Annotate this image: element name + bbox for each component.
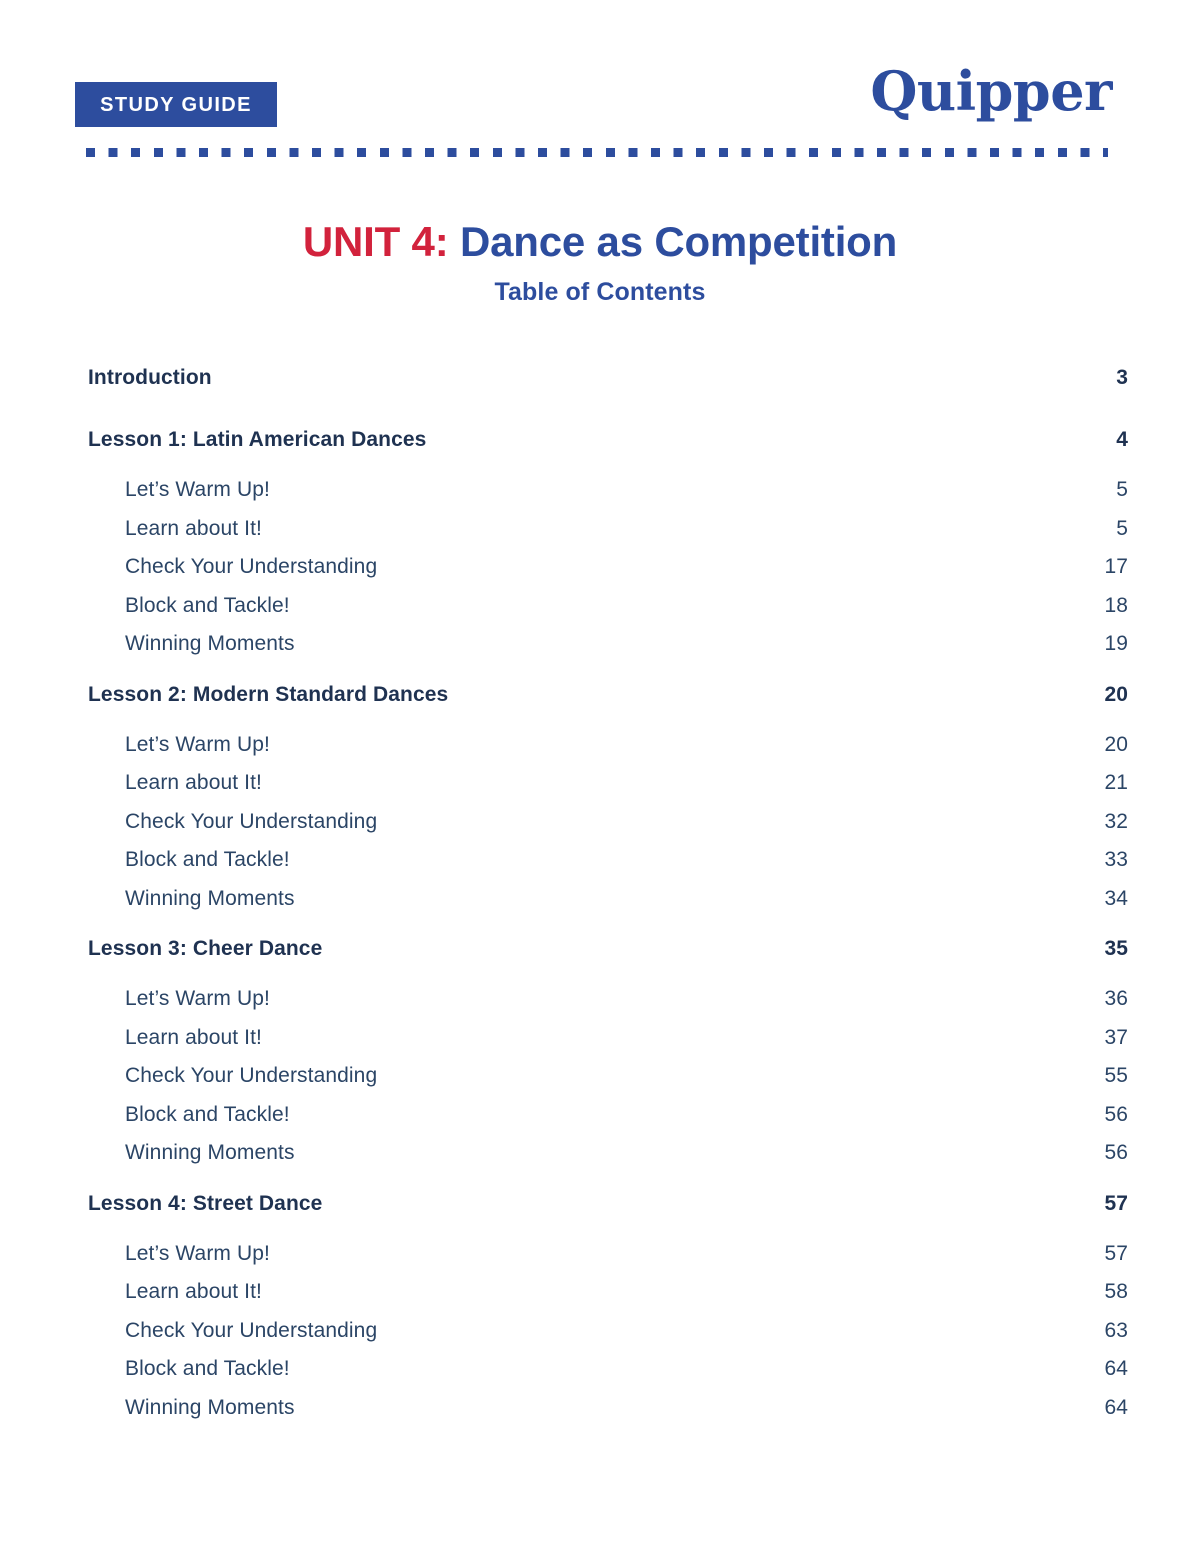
toc-subentry-row[interactable]: Winning Moments64: [88, 1396, 1128, 1435]
toc-entry-label: Lesson 4: Street Dance: [88, 1192, 322, 1216]
toc-entry-page: 35: [1104, 937, 1128, 961]
quipper-logo: Quipper: [870, 64, 1112, 118]
toc-subentry-row[interactable]: Winning Moments34: [88, 887, 1128, 926]
toc-entry-page: 56: [1104, 1103, 1128, 1127]
toc-entry-label: Learn about It!: [125, 517, 262, 541]
toc-entry-label: Block and Tackle!: [125, 594, 290, 618]
toc-entry-page: 36: [1104, 987, 1128, 1011]
toc-subentry-row[interactable]: Learn about It!58: [88, 1280, 1128, 1319]
toc-entry-page: 20: [1104, 683, 1128, 707]
toc-entry-label: Block and Tackle!: [125, 848, 290, 872]
toc-entry-label: Block and Tackle!: [125, 1103, 290, 1127]
toc-entry-label: Let’s Warm Up!: [125, 987, 270, 1011]
toc-entry-page: 20: [1104, 733, 1128, 757]
toc-entry-page: 57: [1104, 1192, 1128, 1216]
toc-subentry-row[interactable]: Check Your Understanding32: [88, 810, 1128, 849]
toc-entry-page: 32: [1104, 810, 1128, 834]
toc-entry-label: Let’s Warm Up!: [125, 478, 270, 502]
toc-section-row[interactable]: Lesson 4: Street Dance57: [88, 1192, 1128, 1242]
toc-subentry-row[interactable]: Winning Moments56: [88, 1141, 1128, 1180]
toc-entry-page: 63: [1104, 1319, 1128, 1343]
toc-entry-page: 18: [1104, 594, 1128, 618]
table-of-contents: Introduction3Lesson 1: Latin American Da…: [88, 366, 1128, 1434]
toc-entry-label: Check Your Understanding: [125, 810, 377, 834]
toc-entry-label: Lesson 2: Modern Standard Dances: [88, 683, 448, 707]
study-guide-badge-label: STUDY GUIDE: [100, 95, 252, 115]
toc-subentry-row[interactable]: Let’s Warm Up!20: [88, 733, 1128, 772]
toc-entry-label: Lesson 1: Latin American Dances: [88, 428, 426, 452]
toc-entry-label: Block and Tackle!: [125, 1357, 290, 1381]
toc-section-row[interactable]: Lesson 3: Cheer Dance35: [88, 937, 1128, 987]
study-guide-badge: STUDY GUIDE: [75, 82, 277, 127]
toc-entry-label: Let’s Warm Up!: [125, 1242, 270, 1266]
toc-entry-page: 5: [1116, 517, 1128, 541]
toc-subentry-row[interactable]: Let’s Warm Up!5: [88, 478, 1128, 517]
toc-entry-page: 64: [1104, 1357, 1128, 1381]
toc-entry-page: 64: [1104, 1396, 1128, 1420]
toc-subentry-row[interactable]: Check Your Understanding63: [88, 1319, 1128, 1358]
toc-entry-label: Let’s Warm Up!: [125, 733, 270, 757]
toc-entry-page: 3: [1116, 366, 1128, 390]
header-dotted-divider: [86, 148, 1108, 157]
title-block: UNIT 4: Dance as Competition Table of Co…: [0, 218, 1200, 307]
toc-subentry-row[interactable]: Block and Tackle!33: [88, 848, 1128, 887]
toc-subentry-row[interactable]: Learn about It!21: [88, 771, 1128, 810]
unit-name: Dance as Competition: [460, 218, 897, 265]
toc-subentry-row[interactable]: Let’s Warm Up!36: [88, 987, 1128, 1026]
unit-number: UNIT 4:: [303, 218, 449, 265]
page-title: UNIT 4: Dance as Competition: [0, 218, 1200, 265]
toc-subentry-row[interactable]: Check Your Understanding55: [88, 1064, 1128, 1103]
toc-subentry-row[interactable]: Learn about It!37: [88, 1026, 1128, 1065]
toc-entry-page: 17: [1104, 555, 1128, 579]
toc-entry-label: Learn about It!: [125, 771, 262, 795]
page-header: STUDY GUIDE Quipper: [0, 0, 1200, 170]
toc-entry-label: Lesson 3: Cheer Dance: [88, 937, 322, 961]
toc-subtitle: Table of Contents: [0, 279, 1200, 307]
toc-entry-page: 56: [1104, 1141, 1128, 1165]
toc-entry-label: Winning Moments: [125, 1141, 295, 1165]
toc-subentry-row[interactable]: Let’s Warm Up!57: [88, 1242, 1128, 1281]
document-page: STUDY GUIDE Quipper UNIT 4: Dance as Com…: [0, 0, 1200, 1553]
toc-subentry-row[interactable]: Block and Tackle!64: [88, 1357, 1128, 1396]
toc-entry-label: Learn about It!: [125, 1026, 262, 1050]
toc-entry-page: 4: [1116, 428, 1128, 452]
toc-entry-page: 57: [1104, 1242, 1128, 1266]
page-footer: 1: [0, 1433, 1200, 1553]
toc-entry-label: Check Your Understanding: [125, 1319, 377, 1343]
toc-entry-label: Check Your Understanding: [125, 555, 377, 579]
toc-subentry-row[interactable]: Block and Tackle!18: [88, 594, 1128, 633]
toc-subentry-row[interactable]: Learn about It!5: [88, 517, 1128, 556]
toc-entry-page: 21: [1104, 771, 1128, 795]
toc-entry-label: Winning Moments: [125, 887, 295, 911]
toc-entry-label: Learn about It!: [125, 1280, 262, 1304]
toc-entry-page: 19: [1104, 632, 1128, 656]
toc-section-row[interactable]: Introduction3: [88, 366, 1128, 416]
toc-entry-label: Winning Moments: [125, 632, 295, 656]
toc-entry-page: 33: [1104, 848, 1128, 872]
toc-entry-page: 55: [1104, 1064, 1128, 1088]
toc-subentry-row[interactable]: Winning Moments19: [88, 632, 1128, 671]
toc-subentry-row[interactable]: Check Your Understanding17: [88, 555, 1128, 594]
toc-entry-label: Introduction: [88, 366, 212, 390]
toc-subentry-row[interactable]: Block and Tackle!56: [88, 1103, 1128, 1142]
toc-section-row[interactable]: Lesson 1: Latin American Dances4: [88, 428, 1128, 478]
toc-entry-page: 37: [1104, 1026, 1128, 1050]
toc-entry-label: Winning Moments: [125, 1396, 295, 1420]
toc-entry-page: 34: [1104, 887, 1128, 911]
toc-entry-label: Check Your Understanding: [125, 1064, 377, 1088]
toc-entry-page: 58: [1104, 1280, 1128, 1304]
toc-entry-page: 5: [1116, 478, 1128, 502]
toc-section-row[interactable]: Lesson 2: Modern Standard Dances20: [88, 683, 1128, 733]
